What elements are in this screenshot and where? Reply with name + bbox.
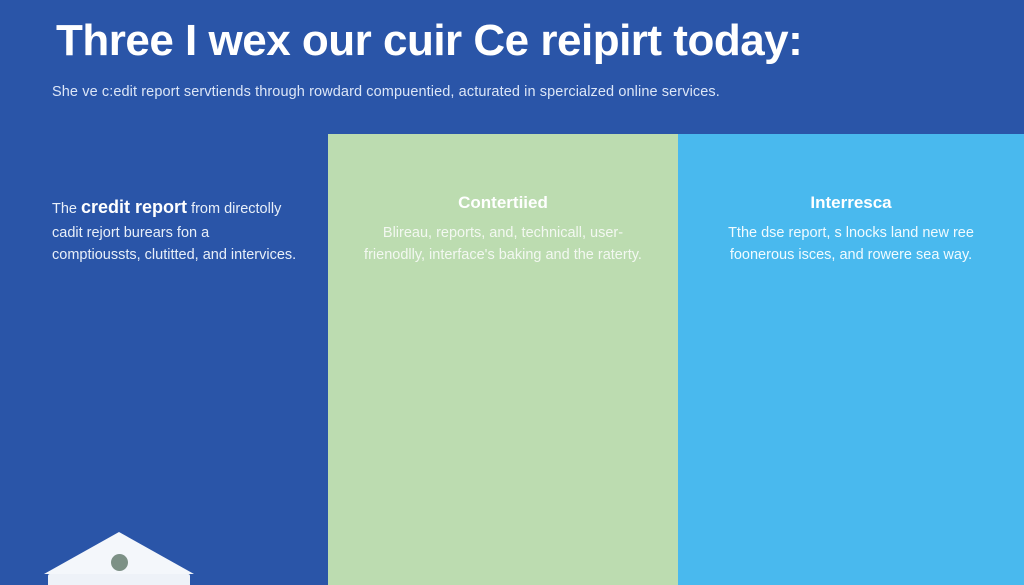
column-1-body: The credit report from directolly cadit … [52,194,300,267]
column-2-body: Blireau, reports, and, technicall, user-… [328,222,678,267]
bank-entablature [48,574,190,585]
page-title: Three I wex our cuir Ce reipirt today: [56,16,802,66]
column-certified: Contertiied Blireau, reports, and, techn… [328,134,678,585]
column-1-lead: The [52,201,81,217]
bank-building-icon [44,532,194,585]
column-1-emphasis: credit report [81,197,187,217]
columns-container: The credit report from directolly cadit … [0,134,1024,585]
column-2-heading: Contertiied [328,193,678,213]
header-banner: Three I wex our cuir Ce reipirt today: S… [0,0,1024,134]
bank-oculus-window [111,554,128,571]
column-online: Interresca Tthe dse report, s lnocks lan… [678,134,1024,585]
column-3-body: Tthe dse report, s lnocks land new ree f… [678,222,1024,267]
page-subtitle: She ve c:edit report servtiends through … [52,84,720,100]
column-credit-bureaus: The credit report from directolly cadit … [0,134,328,585]
column-3-heading: Interresca [678,193,1024,213]
